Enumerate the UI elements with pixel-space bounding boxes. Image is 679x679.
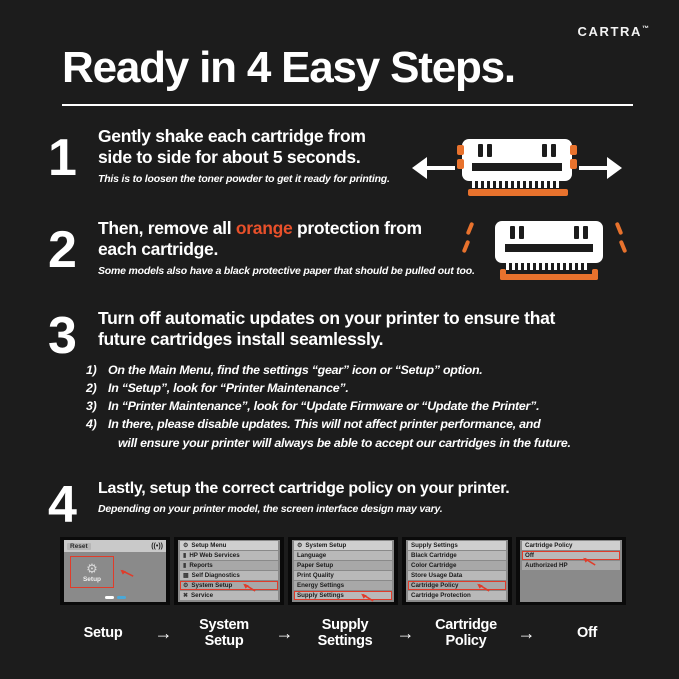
- flow-arrow-icon: →: [510, 623, 544, 644]
- menu-row[interactable]: Authorized HP: [522, 561, 620, 570]
- step-4: 4 Lastly, setup the correct cartridge po…: [42, 477, 562, 516]
- menu-row-selected-off[interactable]: Off: [522, 551, 620, 560]
- menu-row-label: System Setup: [191, 582, 232, 589]
- flow-arrow-icon: →: [147, 623, 181, 644]
- sublist-text: In there, please disable updates. This w…: [108, 417, 540, 431]
- flow-label-line1: Cartridge: [435, 617, 497, 633]
- menu-row[interactable]: Color Cartridge: [408, 561, 506, 570]
- orange-protection-strip: [500, 274, 598, 280]
- flow-label-supply-settings: Supply Settings: [302, 617, 388, 649]
- step-2: 2 Then, remove all orange protection fro…: [42, 218, 502, 278]
- printer-screen-1: Reset ((•)) ⚙ Setup: [60, 537, 170, 605]
- sublist-item: 4) In there, please disable updates. Thi…: [86, 415, 642, 451]
- menu-row-selected-supply-settings[interactable]: Supply Settings: [294, 591, 392, 600]
- step-4-headline: Lastly, setup the correct cartridge poli…: [98, 479, 562, 499]
- lcd-panel: Supply Settings Black Cartridge Color Ca…: [406, 540, 508, 602]
- cartridge-cap-right2: [570, 159, 577, 169]
- cartridge-slot: [510, 226, 515, 239]
- step-4-number: 4: [48, 479, 75, 531]
- menu-row[interactable]: ✖Service: [180, 591, 278, 600]
- step-1-text: Gently shake each cartridge from side to…: [98, 126, 442, 186]
- menu-row-label: Self Diagnostics: [192, 572, 240, 579]
- setup-tile-label: Setup: [83, 576, 101, 583]
- menu-row-label: Setup Menu: [191, 542, 226, 549]
- menu-row[interactable]: Energy Settings: [294, 581, 392, 590]
- menu-row-header: Supply Settings: [408, 541, 506, 550]
- printer-screen-4: Supply Settings Black Cartridge Color Ca…: [402, 537, 512, 605]
- sublist-text-wrap: In there, please disable updates. This w…: [108, 415, 642, 451]
- menu-row[interactable]: ▮Reports: [180, 561, 278, 570]
- step-2-headline-post: protection from: [292, 218, 421, 238]
- sublist-item: 1) On the Main Menu, find the settings “…: [86, 361, 642, 379]
- cartridge-slot: [478, 144, 483, 157]
- step-4-subtext: Depending on your printer model, the scr…: [98, 503, 562, 516]
- sublist-marker: 4): [86, 415, 108, 451]
- gear-icon: ⚙: [297, 542, 302, 549]
- poster-root: CARTRA™ Ready in 4 Easy Steps. 1 Gently …: [0, 0, 679, 679]
- menu-row-label: HP Web Services: [189, 552, 239, 559]
- flow-label-line1: Supply: [318, 617, 373, 633]
- menu-row-header: ⚙System Setup: [294, 541, 392, 550]
- menu-row-label: Cartridge Policy: [411, 582, 458, 589]
- step-1-headline-line2: side to side for about 5 seconds.: [98, 147, 442, 168]
- cartridge-slot: [487, 144, 492, 157]
- menu-row-header: Cartridge Policy: [522, 541, 620, 550]
- navigation-path-flow: Setup → System Setup → Supply Settings →…: [60, 610, 630, 656]
- step-1: 1 Gently shake each cartridge from side …: [42, 126, 442, 186]
- cartridge-peel-icon: [495, 221, 603, 263]
- cartridge-slot: [574, 226, 579, 239]
- step-2-headline-line1: Then, remove all orange protection from: [98, 218, 502, 239]
- printer-screen-sequence: Reset ((•)) ⚙ Setup ⚙Setup Menu: [60, 537, 630, 605]
- cartridge-cap-right: [570, 145, 577, 155]
- menu-row[interactable]: Paper Setup: [294, 561, 392, 570]
- flow-label-system-setup: System Setup: [181, 617, 267, 649]
- doc-icon: ▮: [183, 562, 186, 569]
- step-3-text: Turn off automatic updates on your print…: [98, 308, 642, 351]
- menu-row-label: Black Cartridge: [411, 552, 457, 559]
- lcd-top-bar: Reset ((•)): [64, 540, 166, 552]
- step-3-sublist: 1) On the Main Menu, find the settings “…: [86, 361, 642, 452]
- cartridge-bar: [503, 242, 595, 254]
- flow-label-line2: Policy: [435, 633, 497, 649]
- step-2-headline-line2: each cartridge.: [98, 239, 502, 260]
- flow-label-line2: Setup: [199, 633, 249, 649]
- step-2-subtext: Some models also have a black protective…: [98, 265, 502, 278]
- menu-row[interactable]: Cartridge Protection: [408, 591, 506, 600]
- menu-row-label: Color Cartridge: [411, 562, 456, 569]
- menu-row[interactable]: Language: [294, 551, 392, 560]
- step-1-illustration: [412, 133, 622, 205]
- motion-dash: [615, 222, 624, 236]
- menu-row[interactable]: ▮HP Web Services: [180, 551, 278, 560]
- pointer-arrow-icon: [118, 568, 134, 578]
- menu-row-label: Authorized HP: [525, 562, 568, 569]
- step-2-illustration: [462, 216, 627, 294]
- menu-row-selected-system-setup[interactable]: ⚙System Setup: [180, 581, 278, 590]
- flow-label-off: Off: [544, 625, 630, 641]
- doc-icon: ▮: [183, 552, 186, 559]
- menu-row-label: Service: [191, 592, 213, 599]
- step-3-headline-line1: Turn off automatic updates on your print…: [98, 308, 642, 329]
- flow-arrow-icon: →: [268, 623, 302, 644]
- menu-row-selected-cartridge-policy[interactable]: Cartridge Policy: [408, 581, 506, 590]
- menu-row-label: Print Quality: [297, 572, 334, 579]
- cartridge-cap-left: [457, 145, 464, 155]
- cartridge-slot: [542, 144, 547, 157]
- wifi-icon: ((•)): [151, 543, 163, 550]
- step-2-number: 2: [48, 224, 75, 276]
- menu-row-header: ⚙Setup Menu: [180, 541, 278, 550]
- flow-label-line1: Setup: [84, 625, 123, 641]
- menu-row-label: Energy Settings: [297, 582, 344, 589]
- step-3-headline-line2: future cartridges install seamlessly.: [98, 329, 642, 350]
- cartridge-bar: [470, 161, 564, 173]
- arrow-right-head-icon: [607, 157, 622, 179]
- step-2-headline: Then, remove all orange protection from …: [98, 218, 502, 261]
- lcd-panel: Cartridge Policy Off Authorized HP: [520, 540, 622, 602]
- tools-icon: ✖: [183, 592, 188, 599]
- brand-trademark: ™: [642, 26, 649, 33]
- sublist-item: 3) In “Printer Maintenance”, look for “U…: [86, 397, 642, 415]
- motion-dash: [466, 222, 475, 236]
- flow-label-cartridge-policy: Cartridge Policy: [423, 617, 509, 649]
- cartridge-shake-icon: [462, 139, 572, 181]
- sublist-text: In “Setup”, look for “Printer Maintenanc…: [108, 379, 642, 397]
- cartridge-cap-left2: [457, 159, 464, 169]
- step-1-number: 1: [48, 132, 75, 184]
- sublist-text: On the Main Menu, find the settings “gea…: [108, 361, 642, 379]
- step-1-headline: Gently shake each cartridge from side to…: [98, 126, 442, 169]
- printer-screen-5: Cartridge Policy Off Authorized HP: [516, 537, 626, 605]
- flow-label-line2: Settings: [318, 633, 373, 649]
- page-title: Ready in 4 Easy Steps.: [62, 43, 515, 93]
- cartridge-orange-strip: [468, 189, 568, 196]
- flow-label-line1: Off: [577, 625, 597, 641]
- lcd-panel: ⚙Setup Menu ▮HP Web Services ▮Reports ▩S…: [178, 540, 280, 602]
- menu-row-label: Paper Setup: [297, 562, 333, 569]
- step-1-subtext: This is to loosen the toner powder to ge…: [98, 173, 442, 186]
- flow-label-line1: System: [199, 617, 249, 633]
- cartridge-slot: [519, 226, 524, 239]
- step-3-headline: Turn off automatic updates on your print…: [98, 308, 642, 351]
- orange-protection-strip-end-right: [592, 269, 598, 280]
- menu-row[interactable]: Black Cartridge: [408, 551, 506, 560]
- menu-row-label: System Setup: [305, 542, 346, 549]
- menu-row-label: Reports: [189, 562, 212, 569]
- gear-icon: ⚙: [86, 562, 98, 575]
- menu-row-label: Supply Settings: [297, 592, 344, 599]
- sublist-marker: 3): [86, 397, 108, 415]
- cartridge-slot: [583, 226, 588, 239]
- menu-row-label: Cartridge Policy: [525, 542, 572, 549]
- step-3: 3 Turn off automatic updates on your pri…: [42, 308, 642, 452]
- step-2-headline-pre: Then, remove all: [98, 218, 236, 238]
- sublist-marker: 1): [86, 361, 108, 379]
- gear-icon: ⚙: [183, 582, 188, 589]
- setup-tile[interactable]: ⚙ Setup: [70, 556, 114, 588]
- reset-tab-label[interactable]: Reset: [67, 543, 91, 550]
- motion-dash: [619, 240, 628, 254]
- brand-logo: CARTRA™: [578, 24, 649, 39]
- step-2-headline-highlight: orange: [236, 218, 293, 238]
- chart-icon: ▩: [183, 572, 189, 579]
- lcd-panel: ⚙System Setup Language Paper Setup Print…: [292, 540, 394, 602]
- printer-screen-2: ⚙Setup Menu ▮HP Web Services ▮Reports ▩S…: [174, 537, 284, 605]
- menu-row-label: Language: [297, 552, 326, 559]
- flow-arrow-icon: →: [389, 623, 423, 644]
- sublist-text-continued: will ensure your printer will always be …: [108, 434, 642, 452]
- printer-screen-3: ⚙System Setup Language Paper Setup Print…: [288, 537, 398, 605]
- sublist-item: 2) In “Setup”, look for “Printer Mainten…: [86, 379, 642, 397]
- title-divider: [62, 104, 633, 106]
- orange-protection-strip-end-left: [500, 269, 506, 280]
- brand-name: CARTRA: [578, 24, 642, 39]
- arrow-right-shaft: [579, 166, 609, 170]
- step-2-text: Then, remove all orange protection from …: [98, 218, 502, 278]
- cartridge-teeth: [506, 261, 587, 270]
- wrench-icon: ⚙: [183, 542, 188, 549]
- step-1-headline-line1: Gently shake each cartridge from: [98, 126, 442, 147]
- sublist-text: In “Printer Maintenance”, look for “Upda…: [108, 397, 642, 415]
- menu-row[interactable]: ▩Self Diagnostics: [180, 571, 278, 580]
- menu-row-label: Cartridge Protection: [411, 592, 471, 599]
- menu-row[interactable]: Print Quality: [294, 571, 392, 580]
- menu-row[interactable]: Store Usage Data: [408, 571, 506, 580]
- step-4-text: Lastly, setup the correct cartridge poli…: [98, 477, 562, 516]
- flow-label-setup: Setup: [60, 625, 146, 641]
- step-3-number: 3: [48, 310, 75, 362]
- arrow-left-shaft: [425, 166, 455, 170]
- motion-dash: [462, 240, 471, 254]
- cartridge-teeth: [472, 179, 559, 188]
- menu-row-label: Supply Settings: [411, 542, 458, 549]
- menu-row-label: Store Usage Data: [411, 572, 462, 579]
- cartridge-slot: [551, 144, 556, 157]
- menu-row-label: Off: [525, 552, 534, 559]
- page-indicator[interactable]: [64, 596, 166, 599]
- sublist-marker: 2): [86, 379, 108, 397]
- lcd-panel: Reset ((•)) ⚙ Setup: [64, 540, 166, 602]
